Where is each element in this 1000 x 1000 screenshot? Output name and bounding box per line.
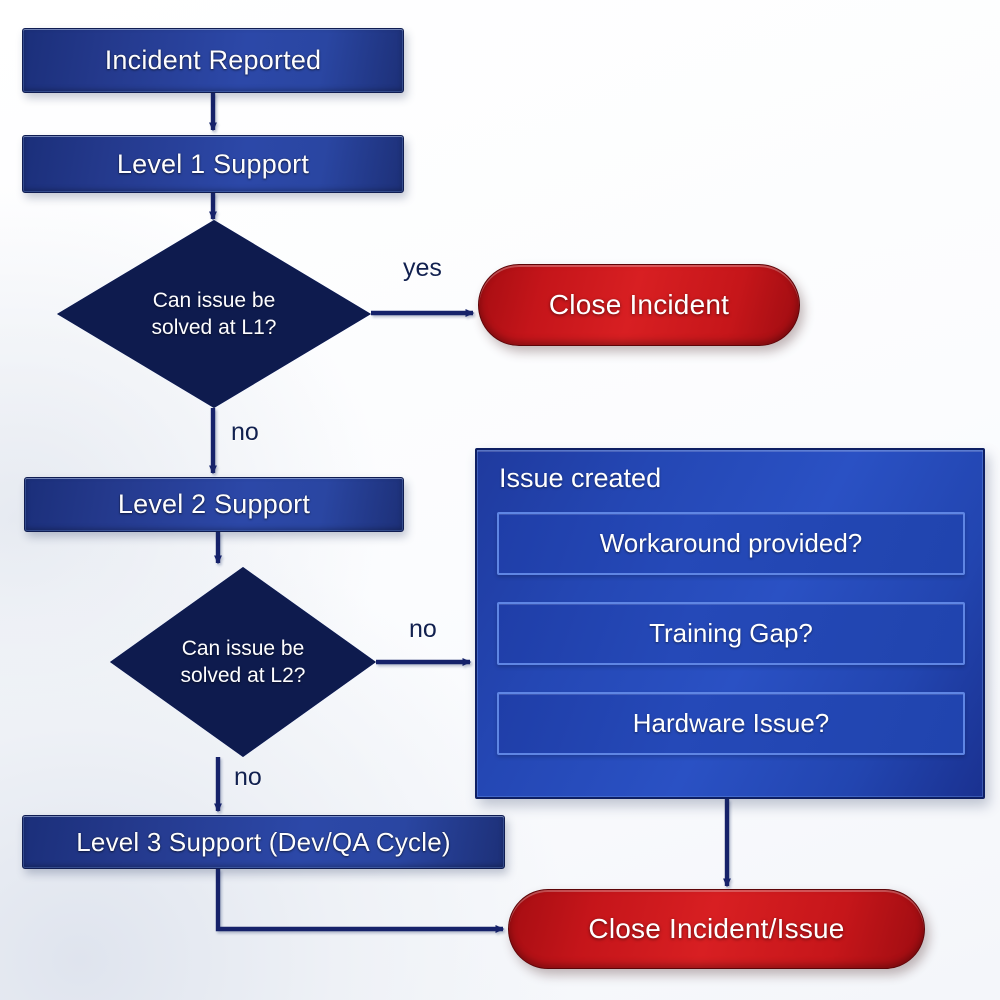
flowchart-canvas: yes no no no Incident Reported Level 1 S… [0, 0, 1000, 1000]
node-label: Close Incident/Issue [588, 913, 844, 945]
panel-item-label: Hardware Issue? [633, 708, 830, 739]
node-close-incident-issue[interactable]: Close Incident/Issue [508, 889, 925, 969]
node-level-3-support[interactable]: Level 3 Support (Dev/QA Cycle) [22, 815, 505, 869]
node-level-2-support[interactable]: Level 2 Support [24, 477, 404, 532]
panel-item-hardware-issue[interactable]: Hardware Issue? [497, 692, 965, 755]
panel-item-label: Workaround provided? [600, 528, 863, 559]
diamond-outline [110, 567, 376, 757]
edge-label-l2-no-down: no [234, 763, 262, 792]
panel-title: Issue created [499, 463, 661, 494]
node-label: Level 3 Support (Dev/QA Cycle) [76, 827, 451, 858]
diamond-outline [57, 220, 371, 408]
panel-item-training-gap[interactable]: Training Gap? [497, 602, 965, 665]
edge-label-l2-no-right: no [409, 615, 437, 644]
node-decision-l2[interactable]: Can issue be solved at L2? [110, 567, 376, 757]
node-label: Level 2 Support [118, 489, 310, 520]
edge-label-l1-no: no [231, 418, 259, 447]
node-incident-reported[interactable]: Incident Reported [22, 28, 404, 93]
node-issue-created-panel[interactable]: Issue created Workaround provided? Train… [475, 448, 985, 799]
node-label: Incident Reported [105, 45, 322, 76]
panel-item-workaround[interactable]: Workaround provided? [497, 512, 965, 575]
node-close-incident[interactable]: Close Incident [478, 264, 800, 346]
node-label: Close Incident [549, 289, 729, 321]
node-label: Level 1 Support [117, 149, 309, 180]
panel-item-label: Training Gap? [649, 618, 813, 649]
node-decision-l1[interactable]: Can issue be solved at L1? [57, 220, 371, 408]
node-level-1-support[interactable]: Level 1 Support [22, 135, 404, 193]
edge-label-l1-yes: yes [403, 254, 442, 283]
edge-level3-to-close [218, 869, 503, 929]
